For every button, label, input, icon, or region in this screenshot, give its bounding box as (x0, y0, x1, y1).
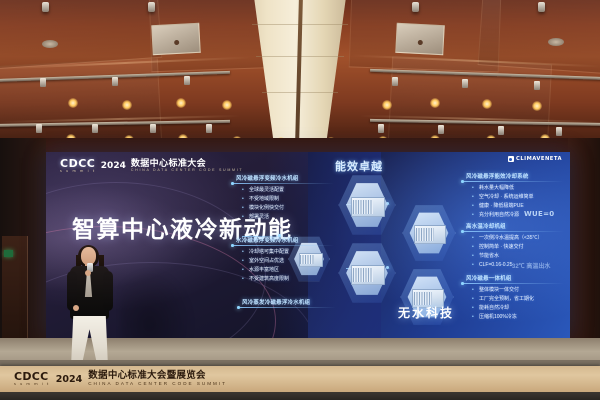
banner-title-cn: 数据中心标准大会暨展览会 (88, 371, 227, 381)
wall-right-panel (568, 138, 600, 364)
downlight (68, 98, 78, 108)
banner-content: CDCC s u m m i t 2024 数据中心标准大会暨展览会 CHINA… (0, 371, 227, 387)
ceiling-vent (395, 23, 445, 55)
block-heading-4: 高水温冷却机组 (466, 222, 506, 230)
heading-dot (461, 180, 464, 183)
downlight (176, 98, 186, 108)
cdcc-logo-subtext: s u m m i t (60, 170, 96, 173)
spotlight (412, 2, 419, 12)
banner-cdcc-logo: CDCC s u m m i t (14, 371, 50, 387)
product-unit-fins (353, 200, 373, 214)
heading-rule (464, 283, 564, 284)
heading-rule (464, 231, 564, 232)
waterless-tech-label: 无水科技 (398, 304, 454, 321)
ceiling-speaker (548, 38, 564, 46)
ceiling-panel (0, 58, 162, 142)
conference-photo: CDCC s u m m i t 2024 数据中心标准大会 CHINA DAT… (0, 0, 600, 400)
spotlight (42, 2, 49, 12)
track-lamp (184, 76, 190, 85)
bullet-item: 冷却塔可集中配置 (242, 248, 289, 257)
track-lamp (150, 124, 156, 133)
ceiling (0, 0, 600, 142)
exit-sign-icon (4, 250, 13, 257)
bullet-item: 不受建筑高度限制 (242, 275, 289, 284)
bullet-item: 整体模块一体交付 (472, 286, 534, 295)
bullet-item: 一次侧冷水温提高（<35℃） (472, 234, 542, 243)
track-lamp (112, 77, 118, 86)
temperature-tag: 32℃ 高温出水 (512, 261, 550, 270)
bullet-item: 模块化例快交付 (242, 204, 284, 213)
heading-rule (240, 307, 336, 308)
speaker-arm-right (103, 271, 113, 311)
track-lamp (556, 127, 562, 136)
downlight (482, 99, 492, 109)
track-lamp (36, 124, 42, 133)
banner-title-group: 数据中心标准大会暨展览会 CHINA DATA CENTER CODE SUMM… (88, 371, 227, 387)
block-bullets-5: 整体模块一体交付 工厂完全预制，省工期化 能耗自然冷却 压缩机100%冷冻 (472, 286, 534, 322)
heading-rule (234, 245, 334, 246)
spotlight (538, 2, 545, 12)
slide-section-title: 能效卓越 (335, 158, 383, 174)
bullet-item: 耗水量大幅降低 (472, 184, 533, 193)
cdcc-logo-text: CDCC (60, 158, 96, 169)
speaker-hand-low (73, 305, 79, 311)
track-lamp (438, 125, 444, 134)
heading-dot (461, 230, 464, 233)
track-lamp (462, 79, 468, 88)
downlight (532, 101, 542, 111)
product-unit-fins (416, 228, 434, 241)
climaveneta-logo-text: CLIMAVENETA (516, 156, 562, 162)
track-lamp (206, 124, 212, 133)
slide-year: 2024 (101, 161, 126, 171)
bullet-item: 能耗自然冷却 (472, 304, 534, 313)
climaveneta-logo: CLIMAVENETA (508, 156, 562, 162)
bullet-item: 全球最灵活配置 (242, 186, 284, 195)
cdcc-wordmark: CDCC s u m m i t (60, 158, 96, 173)
climaveneta-mark-icon (508, 156, 514, 162)
spotlight (148, 2, 155, 12)
block-bullets-0: 全球最灵活配置 不受地域限制 模块化例快交付 部署灵活 (242, 186, 284, 222)
block-heading-1: 水冷磁悬浮变频冷水机组 (236, 236, 299, 244)
slide-title-group: 数据中心标准大会 CHINA DATA CENTER CODE SUMMIT (131, 159, 243, 173)
track-lamp (378, 124, 384, 133)
banner-bottom-edge (0, 392, 600, 400)
downlight (222, 100, 232, 110)
heading-dot (237, 306, 240, 309)
downlight (122, 100, 132, 110)
downlight (430, 98, 440, 108)
speaker-person (62, 247, 118, 367)
slide-title-en: CHINA DATA CENTER CODE SUMMIT (131, 169, 243, 173)
heading-dot (231, 244, 234, 247)
track-lamp (92, 124, 98, 133)
product-unit-fins (353, 268, 373, 282)
bullet-item: 压缩机100%冷冻 (472, 313, 534, 322)
banner-logo-subtext: s u m m i t (14, 383, 50, 387)
banner-logo-text: CDCC (14, 371, 50, 382)
track-lamp (498, 126, 504, 135)
block-bullets-1: 冷却塔可集中配置 室外空间占优选 水源丰富地区 不受建筑高度限制 (242, 248, 289, 284)
bullet-item: 部署灵活 (242, 213, 284, 222)
track-lamp (392, 77, 398, 86)
block-heading-5: 风冷磁悬一体机组 (466, 274, 512, 282)
track-lamp (40, 78, 46, 87)
banner-year: 2024 (56, 374, 82, 385)
banner-title-en: CHINA DATA CENTER CODE SUMMIT (88, 382, 227, 387)
product-unit-fins (300, 255, 314, 264)
speaker-hand-mic (85, 270, 91, 276)
block-heading-0: 风冷磁悬浮变频冷水机组 (236, 174, 299, 182)
bullet-item: 不受地域限制 (242, 195, 284, 204)
downlight (382, 100, 392, 110)
bullet-item: 工厂完全预制，省工期化 (472, 295, 534, 304)
track-lamp (534, 81, 540, 90)
heading-dot (231, 182, 234, 185)
bottom-event-banner: CDCC s u m m i t 2024 数据中心标准大会暨展览会 CHINA… (0, 366, 600, 392)
block-heading-2: 风冷蒸发冷磁悬浮冷水机组 (242, 298, 310, 306)
heading-dot (461, 282, 464, 285)
ceiling-vent (151, 23, 201, 55)
heading-rule (464, 181, 564, 182)
slide-cdcc-logo: CDCC s u m m i t 2024 数据中心标准大会 CHINA DAT… (60, 158, 243, 173)
ceiling-speaker (42, 40, 58, 48)
bullet-item: 控制简单 · 快速交付 (472, 243, 542, 252)
bullet-item: 水源丰富地区 (242, 266, 289, 275)
slide-title-cn: 数据中心标准大会 (131, 159, 243, 168)
heading-rule (234, 183, 334, 184)
block-heading-3: 风冷磁悬浮能效冷却系统 (466, 172, 529, 180)
bullet-item: 空气冷却 · 系统运维简单 (472, 193, 533, 202)
wue-tag: WUE=0 (524, 210, 554, 218)
speaker-shadow (120, 268, 194, 348)
bullet-item: 节能省水 (472, 252, 542, 261)
ceiling-panel (388, 56, 552, 142)
bullet-item: 室外空间占优选 (242, 257, 289, 266)
